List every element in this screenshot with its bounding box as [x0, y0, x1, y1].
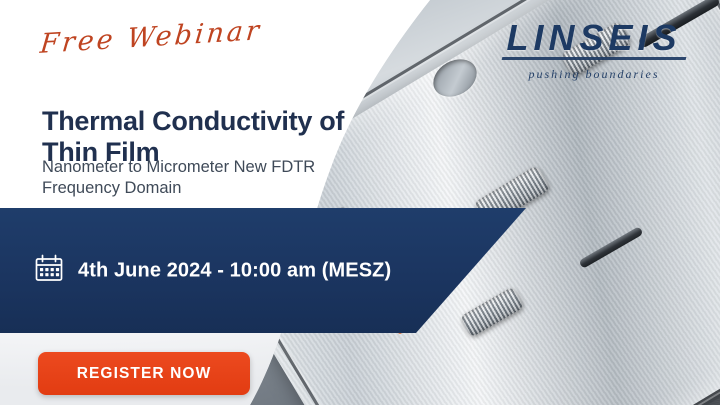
subtitle: Nanometer to Micrometer New FDTR Frequen… [42, 157, 362, 200]
linseis-logo: LINSEIS pushing boundaries [496, 20, 692, 82]
logo-tagline: pushing boundaries [496, 67, 692, 82]
logo-wordmark: LINSEIS [496, 20, 692, 56]
webinar-datetime: 4th June 2024 - 10:00 am (MESZ) [78, 259, 391, 282]
webinar-banner: LINSEIS pushing boundaries Free Webinar … [0, 0, 720, 405]
date-row: 4th June 2024 - 10:00 am (MESZ) [34, 253, 391, 288]
register-now-button[interactable]: REGISTER NOW [38, 352, 250, 395]
logo-underline [502, 57, 687, 60]
calendar-icon [34, 253, 64, 288]
